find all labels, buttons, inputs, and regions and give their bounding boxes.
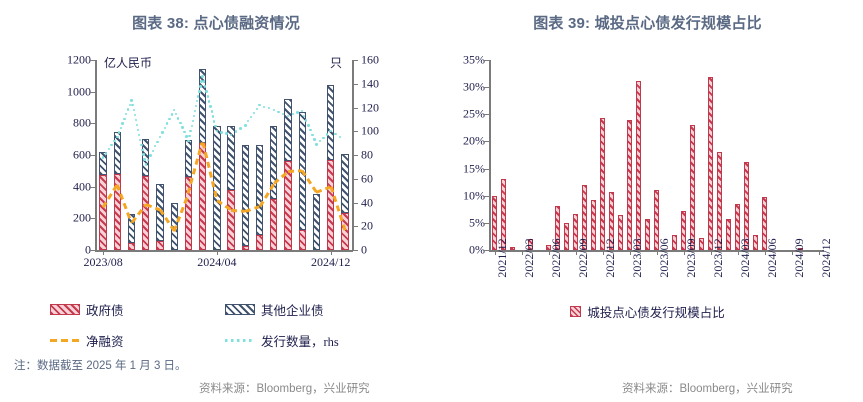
- y2-axis-tick-mark: [353, 203, 358, 204]
- issuance-count-line-dot: [137, 129, 139, 131]
- issuance-count-line-dot: [193, 115, 195, 117]
- issuance-count-line-dot: [181, 126, 183, 128]
- x-axis-tick-mark: [549, 250, 550, 255]
- x-axis-tick-label: 2023/09: [684, 238, 699, 277]
- table-row: [672, 235, 677, 250]
- x-axis-tick-label: 2022/03: [522, 238, 537, 277]
- table-row: [256, 60, 263, 250]
- legend-label-share: 城投点心债发行规模占比: [587, 302, 725, 321]
- issuance-count-line-dot: [201, 75, 203, 77]
- x-axis-tick-mark: [103, 250, 104, 255]
- figure-39-source: 资料来源：Bloomberg，兴业研究: [622, 380, 793, 396]
- x-axis-tick-mark: [765, 250, 766, 255]
- y-axis-tick-label: 25%: [463, 107, 485, 122]
- x-axis-tick-mark: [684, 250, 685, 255]
- y2-axis-tick-label: 160: [361, 53, 379, 68]
- table-row: [627, 120, 632, 250]
- bar-segment-corp: [242, 145, 249, 246]
- issuance-count-line-dot: [156, 141, 158, 143]
- table-row: [645, 219, 650, 250]
- issuance-count-line-dot: [198, 90, 200, 92]
- y-axis-tick-mark: [484, 60, 489, 61]
- issuance-count-line-dot: [203, 80, 205, 82]
- y2-axis-tick-mark: [353, 60, 358, 61]
- y2-axis-tick-label: 100: [361, 124, 379, 139]
- issuance-count-line-dot: [194, 110, 196, 112]
- y2-axis-tick-mark: [353, 131, 358, 132]
- table-row: [213, 60, 220, 250]
- y-axis-tick-mark: [484, 114, 489, 115]
- issuance-count-line-dot: [205, 90, 207, 92]
- figure-38-right-unit: 只: [330, 54, 342, 71]
- table-row: [744, 162, 749, 250]
- issuance-count-line-dot: [138, 134, 140, 136]
- issuance-count-line-dot: [149, 154, 151, 156]
- legend-label-count: 发行数量，rhs: [261, 331, 339, 350]
- issuance-count-line-dot: [143, 158, 145, 160]
- bar-segment-gov: [242, 246, 249, 250]
- issuance-count-line-dot: [319, 140, 321, 142]
- x-axis-tick-mark: [738, 250, 739, 255]
- table-row: [156, 60, 163, 250]
- issuance-count-line-dot: [313, 138, 315, 140]
- y-axis-tick-label: 15%: [463, 161, 485, 176]
- table-row: [636, 81, 641, 250]
- table-row: [242, 60, 249, 250]
- table-row: [600, 118, 605, 250]
- x-axis-tick-mark: [576, 250, 577, 255]
- figure-39-panel: 图表 39: 城投点心债发行规模占比 0%5%10%15%20%25%30%35…: [432, 0, 863, 402]
- y-axis-tick-mark: [90, 250, 95, 251]
- issuance-count-line-dot: [263, 106, 265, 108]
- table-row: [299, 60, 306, 250]
- issuance-count-line-dot: [199, 85, 201, 87]
- x-axis-tick-mark: [792, 250, 793, 255]
- y-axis: [489, 60, 491, 250]
- x-axis: [95, 250, 353, 252]
- issuance-count-line-dot: [188, 135, 190, 137]
- bar-segment-corp: [256, 145, 263, 235]
- issuance-count-line-dot: [322, 137, 324, 139]
- issuance-count-line-dot: [326, 133, 328, 135]
- table-row: [690, 125, 695, 250]
- issuance-count-line-dot: [225, 132, 227, 134]
- issuance-count-line-dot: [152, 150, 154, 152]
- x-axis-tick-mark: [331, 250, 332, 255]
- y-axis-tick-label: 800: [73, 116, 91, 131]
- issuance-count-line-dot: [315, 143, 317, 145]
- issuance-count-line-dot: [189, 130, 191, 132]
- issuance-count-line-dot: [273, 109, 275, 111]
- table-row: [510, 247, 515, 250]
- y2-axis-tick-label: 140: [361, 76, 379, 91]
- issuance-count-line-dot: [123, 118, 125, 120]
- issuance-count-line-dot: [136, 124, 138, 126]
- table-row: [726, 219, 731, 250]
- x-axis-tick-mark: [819, 250, 820, 255]
- hatch-navy-swatch-icon: [225, 304, 255, 315]
- table-row: [114, 60, 121, 250]
- issuance-count-line-dot: [191, 125, 193, 127]
- x-axis-tick-mark: [217, 250, 218, 255]
- bar-segment-corp: [185, 140, 192, 177]
- y-axis-left: [95, 60, 97, 250]
- issuance-count-line-dot: [192, 120, 194, 122]
- bar-segment-gov: [299, 230, 306, 250]
- y2-axis-tick-mark: [353, 108, 358, 109]
- issuance-count-line-dot: [145, 163, 147, 165]
- dashed-orange-swatch-icon: [50, 335, 80, 346]
- issuance-count-line-dot: [121, 122, 123, 124]
- legend-item-count[interactable]: 发行数量，rhs: [225, 331, 339, 350]
- figure-38-source: 资料来源：Bloomberg，兴业研究: [199, 380, 370, 396]
- issuance-count-line-dot: [140, 144, 142, 146]
- issuance-count-line-dot: [110, 144, 112, 146]
- issuance-count-line-dot: [244, 124, 246, 126]
- issuance-count-line-dot: [108, 148, 110, 150]
- x-axis-tick-label: 2023/03: [630, 238, 645, 277]
- y2-axis-tick-label: 40: [361, 195, 373, 210]
- table-row: [227, 60, 234, 250]
- y-axis-tick-mark: [90, 155, 95, 156]
- legend-label-net: 净融资: [86, 331, 124, 350]
- x-axis-tick-label: 2022/09: [576, 238, 591, 277]
- issuance-count-line-dot: [102, 156, 104, 158]
- y-axis-tick-mark: [90, 123, 95, 124]
- legend-item-share[interactable]: 城投点心债发行规模占比: [570, 302, 725, 321]
- figure-38-plot-area: 0200400600800100012000204060801001201401…: [96, 60, 352, 250]
- issuance-count-line-dot: [208, 100, 210, 102]
- bar-segment-corp: [341, 154, 348, 213]
- table-row: [270, 60, 277, 250]
- issuance-count-line-dot: [141, 149, 143, 151]
- dotted-cyan-swatch-icon: [225, 335, 255, 346]
- table-row: [99, 60, 106, 250]
- legend-label-corp: 其他企业债: [261, 300, 324, 319]
- y2-axis-tick-mark: [353, 155, 358, 156]
- y-axis-tick-label: 600: [73, 148, 91, 163]
- table-row: [708, 77, 713, 250]
- issuance-count-line-dot: [235, 130, 237, 132]
- bar-segment-gov: [270, 199, 277, 250]
- table-row: [618, 215, 623, 250]
- issuance-count-line-dot: [120, 127, 122, 129]
- figures-page: 图表 38: 点心债融资情况 0200400600800100012000204…: [0, 0, 863, 402]
- issuance-count-line-dot: [187, 140, 189, 142]
- y2-axis-tick-mark: [353, 179, 358, 180]
- y2-axis-tick-label: 120: [361, 100, 379, 115]
- y-axis-tick-label: 30%: [463, 80, 485, 95]
- issuance-count-line-dot: [311, 134, 313, 136]
- bar-segment-corp: [114, 132, 121, 174]
- net-financing-line-segment: [231, 209, 245, 213]
- issuance-count-line-dot: [185, 135, 187, 137]
- x-axis-tick-label: 2021/12: [495, 238, 510, 277]
- issuance-count-line-dot: [135, 119, 137, 121]
- y-axis-tick-label: 10%: [463, 188, 485, 203]
- y2-axis-tick-label: 20: [361, 219, 373, 234]
- issuance-count-line-dot: [127, 108, 129, 110]
- table-row: [327, 60, 334, 250]
- x-axis-tick-label: 2024/04: [197, 255, 236, 270]
- y-axis-tick-label: 5%: [469, 215, 485, 230]
- figure-38-legend: 政府债 其他企业债 净融资 发行数量，rhs: [50, 300, 410, 350]
- y-axis-tick-mark: [484, 250, 489, 251]
- issuance-count-line-dot: [179, 122, 181, 124]
- issuance-count-line-dot: [292, 113, 294, 115]
- hatch-red-swatch-icon: [570, 306, 581, 317]
- issuance-count-line-dot: [334, 133, 336, 135]
- issuance-count-line-dot: [277, 111, 279, 113]
- bar-segment-gov: [142, 176, 149, 250]
- y2-axis-tick-mark: [353, 84, 358, 85]
- x-axis-tick-label: 2024/12: [311, 255, 350, 270]
- issuance-count-line-dot: [307, 124, 309, 126]
- issuance-count-line-dot: [305, 119, 307, 121]
- issuance-count-line-dot: [239, 127, 241, 129]
- bar-segment-gov: [227, 190, 234, 250]
- figure-38-panel: 图表 38: 点心债融资情况 0200400600800100012000204…: [0, 0, 432, 402]
- table-row: [753, 235, 758, 250]
- y-axis-tick-label: 35%: [463, 53, 485, 68]
- table-row: [185, 60, 192, 250]
- y-axis-tick-label: 1000: [67, 84, 91, 99]
- issuance-count-line-dot: [207, 95, 209, 97]
- figure-38-left-unit: 亿人民币: [104, 54, 152, 71]
- issuance-count-line-dot: [171, 113, 173, 115]
- x-axis-tick-label: 2023/06: [657, 238, 672, 277]
- y-axis-tick-mark: [90, 187, 95, 188]
- x-axis-tick-label: 2022/12: [603, 238, 618, 277]
- x-axis-tick-mark: [522, 250, 523, 255]
- y-axis-tick-mark: [90, 218, 95, 219]
- bar-segment-gov: [128, 243, 135, 250]
- table-row: [564, 223, 569, 250]
- x-axis-tick-mark: [657, 250, 658, 255]
- y-axis-tick-label: 1200: [67, 53, 91, 68]
- y-axis-tick-label: 200: [73, 211, 91, 226]
- issuance-count-line-dot: [130, 99, 132, 101]
- x-axis-tick-mark: [630, 250, 631, 255]
- x-axis-tick-label: 2024/09: [792, 238, 807, 277]
- issuance-count-line-dot: [142, 153, 144, 155]
- issuance-count-line-dot: [164, 127, 166, 129]
- y2-axis-tick-label: 60: [361, 171, 373, 186]
- issuance-count-line-dot: [161, 131, 163, 133]
- x-axis-tick-label: 2024/06: [765, 238, 780, 277]
- bar-segment-corp: [327, 85, 334, 160]
- figure-38-note: 注：数据截至 2025 年 1 月 3 日。: [14, 357, 187, 373]
- y-axis-tick-label: 20%: [463, 134, 485, 149]
- issuance-count-line-dot: [195, 105, 197, 107]
- y-axis-tick-mark: [484, 169, 489, 170]
- table-row: [717, 152, 722, 250]
- bar-segment-gov: [99, 175, 106, 250]
- x-axis-tick-label: 2024/03: [738, 238, 753, 277]
- issuance-count-line-dot: [212, 115, 214, 117]
- issuance-count-line-dot: [183, 131, 185, 133]
- y2-axis-tick-label: 80: [361, 148, 373, 163]
- issuance-count-line-dot: [211, 110, 213, 112]
- x-axis-tick-mark: [603, 250, 604, 255]
- x-axis-tick-mark: [711, 250, 712, 255]
- legend-item-net[interactable]: 净融资: [50, 331, 225, 350]
- bar-segment-gov: [156, 241, 163, 251]
- bar-segment-gov: [327, 160, 334, 250]
- y-axis-tick-label: 0%: [469, 243, 485, 258]
- y-axis-tick-label: 400: [73, 179, 91, 194]
- bar-segment-corp: [284, 99, 291, 162]
- issuance-count-line-dot: [220, 131, 222, 133]
- y-axis-tick-mark: [484, 141, 489, 142]
- table-row: [313, 60, 320, 250]
- issuance-count-line-dot: [209, 105, 211, 107]
- issuance-count-line-dot: [253, 112, 255, 114]
- bar-segment-corp: [313, 194, 320, 250]
- figure-39-plot-area: 0%5%10%15%20%25%30%35%2021/122022/032022…: [490, 60, 823, 250]
- y-axis-tick-mark: [484, 87, 489, 88]
- y2-axis-tick-mark: [353, 226, 358, 227]
- table-row: [591, 200, 596, 250]
- x-axis-tick-label: 2024/12: [819, 238, 834, 277]
- y-axis-tick-mark: [484, 196, 489, 197]
- figure-39-legend: 城投点心债发行规模占比: [432, 302, 863, 321]
- bar-segment-gov: [256, 235, 263, 250]
- legend-item-gov[interactable]: 政府债: [50, 300, 225, 319]
- y-axis-tick-mark: [484, 223, 489, 224]
- issuance-count-line-dot: [296, 111, 298, 113]
- x-axis-tick-label: 2023/08: [83, 255, 122, 270]
- y2-axis-tick-label: 0: [361, 243, 367, 258]
- figure-39-title: 图表 39: 城投点心债发行规模占比: [432, 12, 863, 33]
- issuance-count-line-dot: [177, 117, 179, 119]
- y-axis-tick-mark: [90, 92, 95, 93]
- y2-axis-tick-mark: [353, 250, 358, 251]
- figure-38-title: 图表 38: 点心债融资情况: [0, 12, 432, 33]
- issuance-count-line-dot: [105, 152, 107, 154]
- legend-item-corp[interactable]: 其他企业债: [225, 300, 324, 319]
- legend-label-gov: 政府债: [86, 300, 124, 319]
- table-row: [699, 238, 704, 250]
- issuance-count-line-dot: [166, 122, 168, 124]
- hatch-red-swatch-icon: [50, 304, 80, 315]
- table-row: [284, 60, 291, 250]
- issuance-count-line-dot: [250, 116, 252, 118]
- x-axis-tick-label: 2023/12: [711, 238, 726, 277]
- y-axis-tick-mark: [90, 60, 95, 61]
- issuance-count-line-dot: [168, 118, 170, 120]
- x-axis-tick-label: 2022/06: [549, 238, 564, 277]
- issuance-count-line-dot: [309, 129, 311, 131]
- x-axis-tick-mark: [495, 250, 496, 255]
